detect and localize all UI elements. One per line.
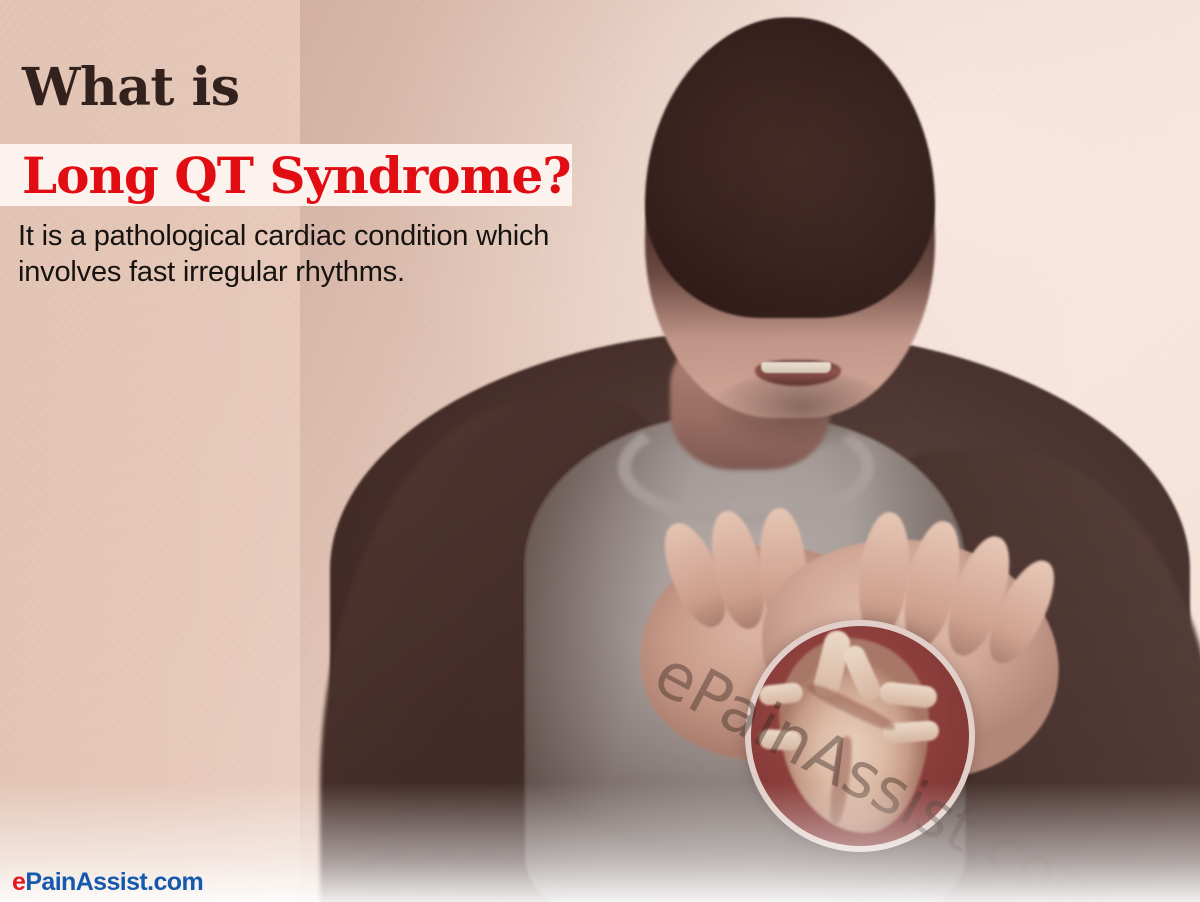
left-vessel-stub-lower bbox=[758, 729, 801, 752]
logo-name: PainAssist.com bbox=[25, 868, 203, 896]
teeth bbox=[761, 362, 831, 373]
page-description: It is a pathological cardiac condition w… bbox=[18, 218, 718, 290]
page-title: Long QT Syndrome? bbox=[22, 148, 582, 204]
description-line-2: involves fast irregular rhythms. bbox=[18, 254, 718, 290]
description-line-1: It is a pathological cardiac condition w… bbox=[18, 218, 718, 254]
site-logo[interactable]: ePainAssist.com bbox=[12, 868, 203, 896]
poster-canvas: ePainAssist.com What is Long QT Syndrome… bbox=[0, 0, 1200, 902]
logo-prefix: e bbox=[12, 868, 25, 896]
page-headline: What is bbox=[22, 62, 240, 114]
